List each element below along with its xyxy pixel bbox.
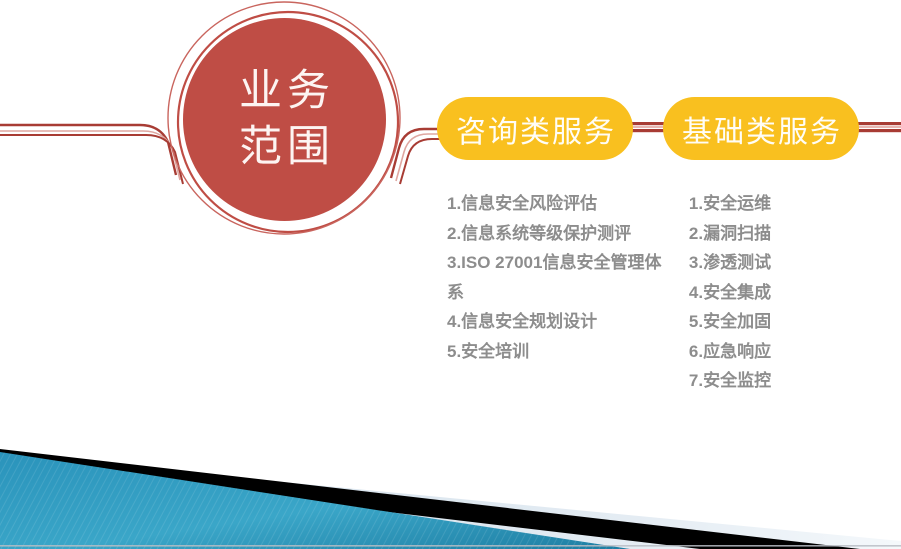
connector-line-right-bottom [855,129,901,132]
list-item: 4.安全集成 [660,278,800,308]
business-scope-badge: 业务 范围 [183,18,386,221]
slide-canvas: 业务 范围 咨询类服务 基础类服务 1.信息安全风险评估 2.信息系统等级保护测… [0,0,901,549]
pale-band-shape [0,455,901,549]
list-item: 4.信息安全规划设计 [447,307,662,337]
category-button-basic-label: 基础类服务 [680,107,842,151]
service-list-consulting: 1.信息安全风险评估 2.信息系统等级保护测评 3.ISO 27001信息安全管… [447,189,662,366]
black-wedge-shape [0,449,860,549]
list-item: 3.ISO 27001信息安全管理体系 [447,248,662,307]
connector-line-left-inner [0,131,180,180]
service-list-basic: 1.安全运维 2.漏洞扫描 3.渗透测试 4.安全集成 5.安全加固 6.应急响… [660,189,800,396]
list-item: 3.渗透测试 [660,248,800,278]
list-item: 7.安全监控 [660,366,800,396]
list-item: 2.信息系统等级保护测评 [447,219,662,249]
category-button-basic[interactable]: 基础类服务 [663,97,859,160]
connector-line-circle-to-consulting-inner [396,134,440,181]
list-item: 2.漏洞扫描 [660,219,800,249]
list-item: 6.应急响应 [660,337,800,367]
list-item: 1.安全运维 [660,189,800,219]
teal-triangle-shape [0,452,630,549]
connector-line-left-outer2 [0,135,183,184]
connector-line-circle-to-consulting-outer2 [400,139,440,184]
badge-title-line-1: 业务 [234,64,335,119]
connector-line-left-outer [0,125,176,175]
category-button-consulting[interactable]: 咨询类服务 [437,97,633,160]
teal-triangle-texture [0,452,630,549]
list-item: 5.安全培训 [447,337,662,367]
connector-line-right-top [855,122,901,125]
bottom-rule [0,545,901,547]
connector-line-circle-to-consulting-outer [391,129,440,178]
list-item: 5.安全加固 [660,307,800,337]
list-item: 1.信息安全风险评估 [447,189,662,219]
connector-line-right-mid [855,126,901,128]
category-button-consulting-label: 咨询类服务 [454,107,616,151]
badge-title-line-2: 范围 [234,120,335,175]
